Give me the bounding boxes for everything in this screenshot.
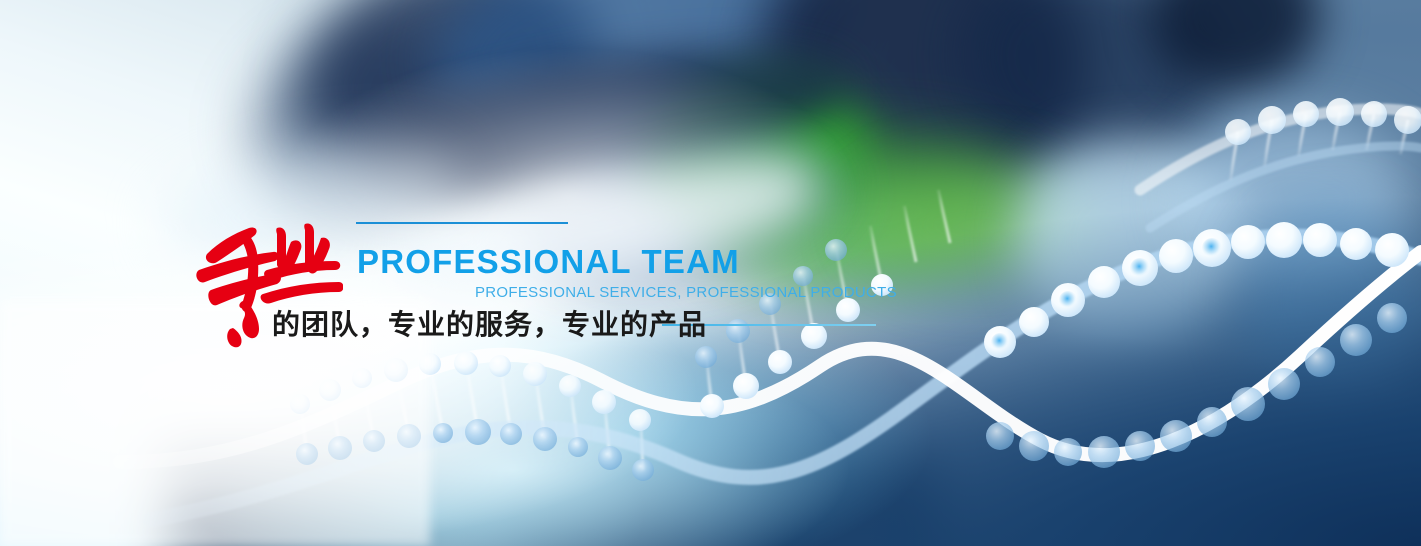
page-title: PROFESSIONAL TEAM [357, 245, 740, 278]
chinese-tagline: 的团队，专业的服务，专业的产品 [272, 308, 707, 342]
page-subtitle: PROFESSIONAL SERVICES, PROFESSIONAL PROD… [475, 285, 897, 300]
decorative-rule-top [356, 222, 568, 224]
hero-banner: PROFESSIONAL TEAM PROFESSIONAL SERVICES,… [0, 0, 1421, 546]
banner-content: PROFESSIONAL TEAM PROFESSIONAL SERVICES,… [0, 0, 1421, 546]
